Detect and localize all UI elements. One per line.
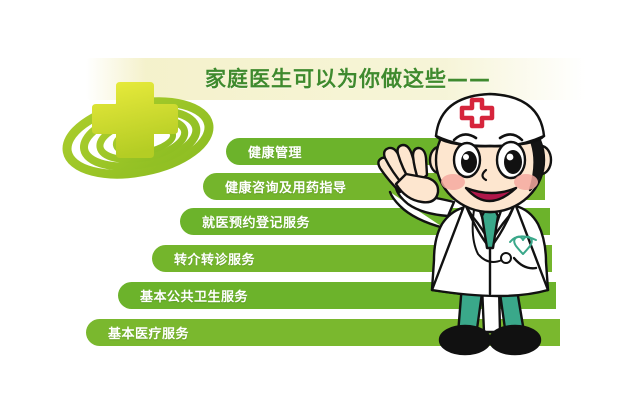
medical-cross-orbit-logo — [58, 42, 228, 182]
service-bar-label: 健康管理 — [248, 142, 302, 161]
service-bar-label: 就医预约登记服务 — [202, 212, 310, 231]
service-bar-label: 健康咨询及用药指导 — [225, 177, 347, 196]
poster-canvas: 家庭医生可以为你做这些—— — [0, 0, 640, 408]
service-bar-label: 基本医疗服务 — [108, 323, 189, 342]
service-bar-label: 基本公共卫生服务 — [140, 286, 248, 305]
service-bar-label: 转介转诊服务 — [174, 249, 255, 268]
cartoon-doctor-figure — [366, 88, 616, 363]
